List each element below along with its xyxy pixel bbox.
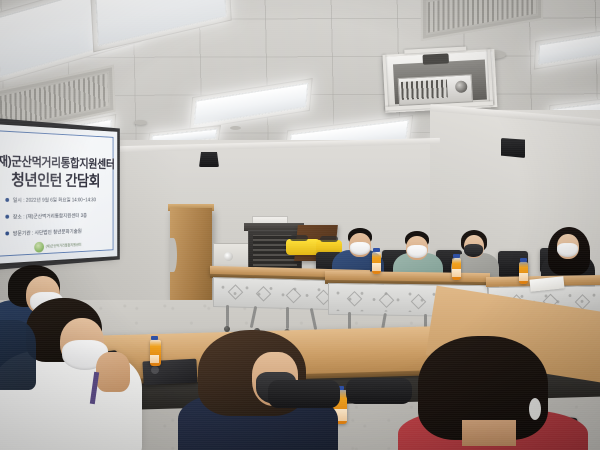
- slide-bullet-text: 장소 : (재)군산먹거리통합지원센터 3층: [13, 211, 87, 220]
- wooden-lectern: [170, 208, 212, 300]
- slide-bullet-list: 일시 : 2022년 9월 6일 화요일 14:00~14:30 장소 : (재…: [5, 196, 111, 247]
- equipment-knob[interactable]: [224, 252, 233, 261]
- photo-scene: (재)군산먹거리통합지원센터 청년인턴 간담회 일시 : 2022년 9월 6일…: [0, 0, 600, 450]
- bullet-dot-icon: [5, 231, 9, 235]
- person-torso: [0, 320, 36, 390]
- slide-bullet: 일시 : 2022년 9월 6일 화요일 14:00~14:30: [5, 196, 111, 204]
- person-arm: [96, 352, 130, 392]
- drink-bottle[interactable]: [372, 252, 381, 274]
- projector-lens: [455, 80, 468, 93]
- office-chair[interactable]: [268, 380, 340, 408]
- face-mask: [557, 243, 578, 257]
- table-leg: [286, 307, 289, 329]
- slide-bullet: 방문기관 : 사단법인 청년문화기술원: [5, 226, 111, 237]
- face-mask: [350, 242, 370, 255]
- bullet-dot-icon: [5, 215, 9, 219]
- slide-bullet-text: 일시 : 2022년 9월 6일 화요일 14:00~14:30: [13, 196, 96, 204]
- drink-bottle[interactable]: [150, 340, 161, 366]
- office-chair[interactable]: [346, 378, 412, 404]
- yellow-bag: [286, 239, 320, 255]
- person-neck: [462, 420, 516, 446]
- ceiling-smoke-detector: [230, 126, 241, 130]
- slide-bullet: 장소 : (재)군산먹거리통합지원센터 3층: [5, 211, 111, 221]
- table-leg: [226, 305, 229, 327]
- wall-speaker: [501, 138, 525, 158]
- presentation-slide: (재)군산먹거리통합지원센터 청년인턴 간담회 일시 : 2022년 9월 6일…: [0, 124, 117, 264]
- organization-logo-icon: [34, 242, 44, 253]
- face-mask: [464, 244, 483, 257]
- bullet-dot-icon: [5, 198, 9, 202]
- face-mask-strap: [529, 398, 541, 420]
- drink-bottle[interactable]: [519, 262, 528, 284]
- wall-speaker: [199, 152, 219, 167]
- slide-bullet-text: 방문기관 : 사단법인 청년문화기술원: [13, 227, 82, 237]
- slide-event-title: 청년인턴 간담회: [0, 166, 116, 190]
- slide-logo-text: (재)군산먹거리통합지원센터: [46, 243, 82, 249]
- face-mask: [407, 245, 427, 258]
- drink-bottle[interactable]: [452, 258, 461, 280]
